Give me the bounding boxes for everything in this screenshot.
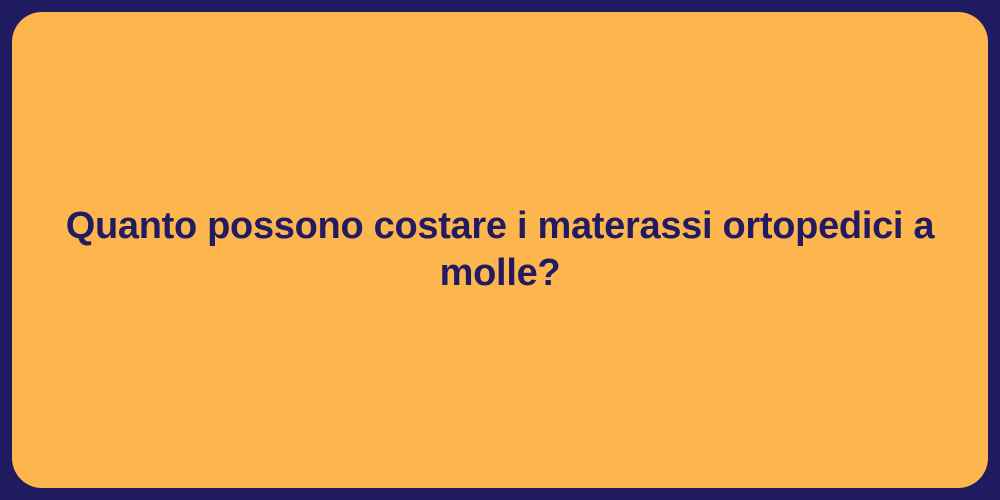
question-card: Quanto possono costare i materassi ortop… [12, 12, 988, 488]
question-heading: Quanto possono costare i materassi ortop… [12, 203, 988, 298]
page-background: Quanto possono costare i materassi ortop… [0, 0, 1000, 500]
